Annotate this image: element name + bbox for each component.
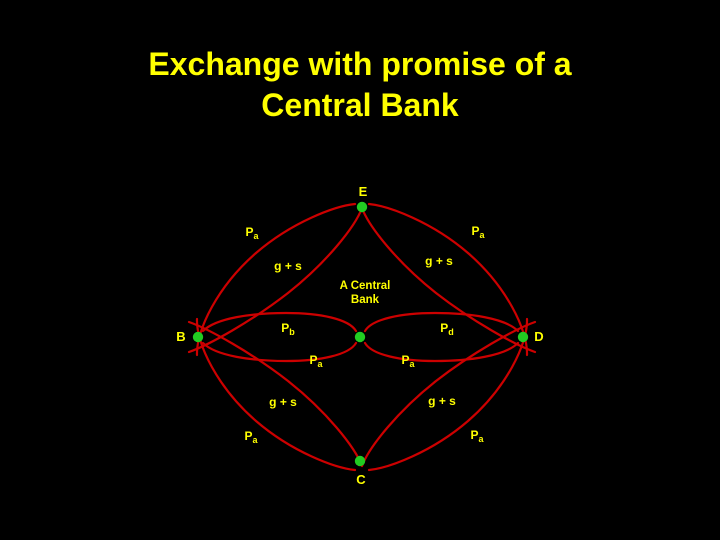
edge-label-center-d-inner-base: P [440, 321, 448, 335]
edge-label-cd-outer-base: P [470, 428, 478, 442]
edge-label-be-outer: Pa [245, 225, 258, 243]
center-bank-label-line-2: Bank [340, 293, 391, 307]
edge-label-bc-outer: Pa [244, 429, 257, 447]
node-label-b: B [176, 330, 185, 344]
edge-label-cd-inner: g + s [428, 394, 456, 412]
edge-b-e-upper-arc [197, 204, 355, 355]
edge-label-ed-inner-base: g + s [425, 254, 453, 268]
slide-canvas: Exchange with promise of a Central Bank [0, 0, 720, 540]
edge-label-ed-inner: g + s [425, 254, 453, 272]
edge-label-center-d-outer-base: P [401, 353, 409, 367]
edge-label-center-d-outer-sub: a [410, 359, 415, 369]
edge-label-be-inner: g + s [274, 259, 302, 277]
edge-label-ed-outer-base: P [471, 224, 479, 238]
edge-b-e-lower-arc [189, 208, 362, 352]
edge-label-bc-outer-sub: a [253, 435, 258, 445]
edge-label-be-outer-sub: a [254, 231, 259, 241]
edge-label-be-outer-base: P [245, 225, 253, 239]
edge-label-center-d-outer: Pa [401, 353, 414, 371]
center-bank-label: A Central Bank [340, 279, 391, 307]
edge-label-cd-outer-sub: a [479, 434, 484, 444]
node-marker-b[interactable] [193, 332, 203, 342]
edge-center-d-lower-arc [365, 343, 518, 361]
edge-label-be-inner-base: g + s [274, 259, 302, 273]
edge-label-b-center-inner-sub: b [289, 327, 295, 337]
edge-label-bc-inner: g + s [269, 395, 297, 413]
edge-label-cd-outer: Pa [470, 428, 483, 446]
edge-label-b-center-outer-base: P [309, 353, 317, 367]
center-bank-label-line-1: A Central [340, 279, 391, 293]
edge-label-ed-outer: Pa [471, 224, 484, 242]
edge-label-bc-outer-base: P [244, 429, 252, 443]
edge-label-b-center-inner-base: P [281, 321, 289, 335]
node-marker-center[interactable] [355, 332, 365, 342]
node-label-c: C [356, 473, 365, 487]
edge-label-bc-inner-base: g + s [269, 395, 297, 409]
edge-label-center-d-inner-sub: d [448, 327, 454, 337]
edge-label-b-center-outer: Pa [309, 353, 322, 371]
edge-b-center-upper-arc [203, 313, 356, 331]
node-marker-c[interactable] [355, 456, 365, 466]
node-marker-e[interactable] [357, 202, 367, 212]
node-label-d: D [534, 330, 543, 344]
node-marker-d[interactable] [518, 332, 528, 342]
edge-label-cd-inner-base: g + s [428, 394, 456, 408]
edge-label-ed-outer-sub: a [480, 230, 485, 240]
exchange-network-diagram [0, 0, 720, 540]
edge-label-b-center-inner: Pb [281, 321, 295, 339]
node-label-e: E [359, 185, 368, 199]
edge-b-center-lower-arc [203, 343, 356, 361]
edge-label-b-center-outer-sub: a [318, 359, 323, 369]
edge-label-center-d-inner: Pd [440, 321, 454, 339]
